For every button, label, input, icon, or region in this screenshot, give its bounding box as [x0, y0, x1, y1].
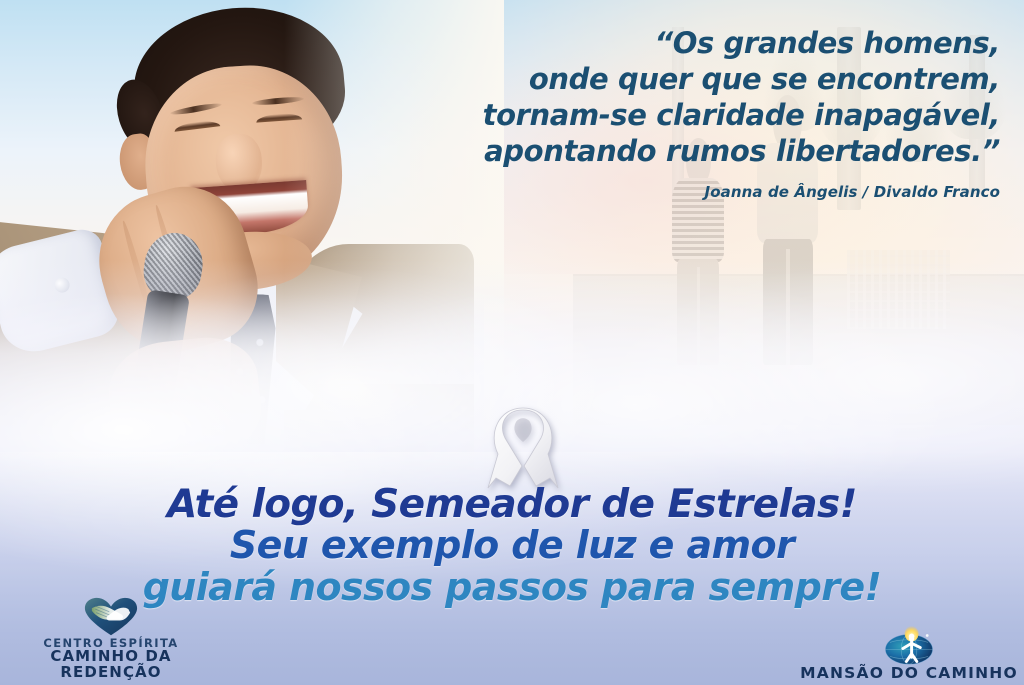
mansao-do-caminho-logo-text: MANSÃO DO CAMINHO [800, 665, 1018, 681]
centro-espirita-logo-text: CENTRO ESPÍRITA CAMINHO DA REDENÇÃO [6, 637, 216, 681]
quote-line-4: apontando rumos libertadores.” [360, 134, 1000, 170]
quote-line-1: “Os grandes homens, [360, 26, 1000, 62]
headline-block: Até logo, Semeador de Estrelas! Seu exem… [0, 484, 1024, 609]
headline-line-1: Até logo, Semeador de Estrelas! [0, 484, 1024, 525]
centro-espirita-logo: CENTRO ESPÍRITA CAMINHO DA REDENÇÃO [6, 597, 216, 681]
quote-attribution: Joanna de Ângelis / Divaldo Franco [360, 183, 1000, 201]
mansao-do-caminho-line-1: MANSÃO DO CAMINHO [800, 665, 1018, 681]
globe-figure-torch-logo-icon [883, 625, 935, 665]
quote-block: “Os grandes homens, onde quer que se enc… [360, 26, 1000, 201]
headline-line-2: Seu exemplo de luz e amor [0, 525, 1024, 567]
quote-line-2: onde quer que se encontrem, [360, 62, 1000, 98]
white-ribbon-icon [486, 404, 560, 490]
centro-espirita-line-2: CAMINHO DA REDENÇÃO [6, 649, 216, 681]
heart-hands-logo-icon [82, 597, 140, 637]
memorial-poster: “Os grandes homens, onde quer que se enc… [0, 0, 1024, 685]
mansao-do-caminho-logo: MANSÃO DO CAMINHO [800, 625, 1018, 681]
quote-line-3: tornam-se claridade inapagável, [360, 98, 1000, 134]
